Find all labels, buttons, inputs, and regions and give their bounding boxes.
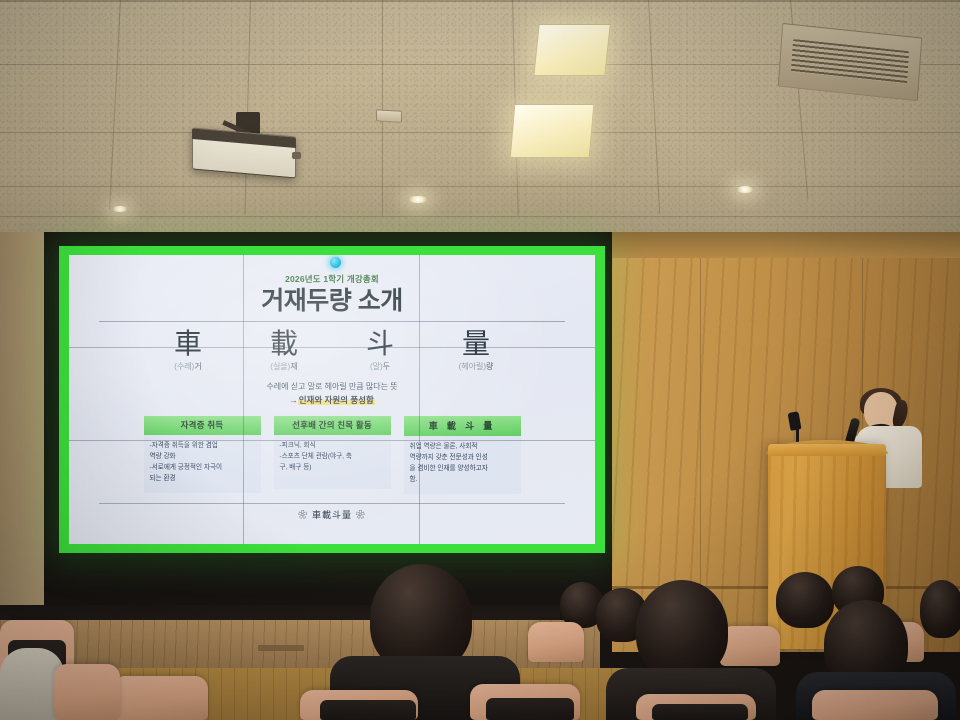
card-1-line-1: -자격증 취득을 위한 겸업 bbox=[150, 441, 255, 451]
projected-slide: 2026년도 1학기 개강총회 거재두량 소개 車 (수레)거 載 (실을)재 bbox=[59, 246, 605, 553]
card-1-line-3: -서로에게 긍정적인 자극이 bbox=[150, 463, 255, 473]
auditorium-seat bbox=[720, 626, 780, 666]
audience-head bbox=[636, 580, 728, 678]
card-3-line-3: 을 겸비한 인재를 양성하고자 bbox=[410, 464, 515, 474]
hanja-char-1: 車 bbox=[155, 329, 221, 358]
slide-title: 거재두량 소개 bbox=[95, 288, 569, 314]
auditorium-seat-back bbox=[320, 700, 416, 720]
hanja-reading-3: (말)두 bbox=[347, 361, 413, 372]
ceiling-light-panel-2 bbox=[510, 104, 595, 158]
audience-head bbox=[920, 580, 960, 638]
activity-card-1: 자격증 취득 -자격증 취득을 위한 겸업 역량 강화 -서로에게 긍정적인 자… bbox=[144, 416, 261, 494]
activity-card-3: 車 載 斗 量 취업 역량은 물론, 사회적 역량까지 갖춘 전문성과 인성 을… bbox=[404, 416, 521, 494]
hanja-meaning-1: (수레) bbox=[174, 362, 194, 371]
activity-card-1-head: 자격증 취득 bbox=[144, 416, 261, 435]
slide-canvas: 2026년도 1학기 개강총회 거재두량 소개 車 (수레)거 載 (실을)재 bbox=[69, 255, 595, 544]
auditorium-seat-back bbox=[486, 698, 574, 720]
hanja-sound-4: 량 bbox=[486, 362, 493, 371]
slide-divider-top bbox=[99, 321, 565, 322]
activity-card-1-body: -자격증 취득을 위한 겸업 역량 강화 -서로에게 긍정적인 자극이 되는 환… bbox=[144, 435, 261, 493]
slide-divider-bottom bbox=[99, 503, 565, 504]
hanja-cell-2: 載 (실을)재 bbox=[251, 329, 317, 371]
hanja-meaning-4: (헤아릴) bbox=[459, 362, 486, 371]
meaning-highlight: 인재와 자원의 풍성함 bbox=[298, 395, 375, 405]
activity-card-3-body: 취업 역량은 물론, 사회적 역량까지 갖춘 전문성과 인성 을 겸비한 인재를… bbox=[404, 436, 521, 494]
activity-cards: 자격증 취득 -자격증 취득을 위한 겸업 역량 강화 -서로에게 긍정적인 자… bbox=[95, 416, 569, 494]
slide-eyebrow: 2026년도 1학기 개강총회 bbox=[95, 273, 569, 285]
hanja-reading-2: (실을)재 bbox=[251, 361, 317, 372]
hanja-char-2: 載 bbox=[251, 329, 317, 358]
wall-right-upper-trim bbox=[612, 232, 960, 258]
ceiling-light-panel-1 bbox=[533, 24, 610, 76]
ceiling-downlight-2 bbox=[408, 196, 428, 203]
audience-head bbox=[776, 572, 834, 628]
activity-card-2-head: 선후배 간의 친목 활동 bbox=[274, 416, 391, 435]
stage-floor-plate bbox=[258, 645, 304, 651]
card-2-line-1: -피크닉, 회식 bbox=[280, 441, 385, 451]
lecture-hall-photo: 2026년도 1학기 개강총회 거재두량 소개 車 (수레)거 載 (실을)재 bbox=[0, 0, 960, 720]
card-2-line-2: -스포츠 단체 관람(야구, 축 bbox=[280, 452, 385, 462]
hanja-meaning-3: (말) bbox=[370, 362, 383, 371]
slide-footer: ❀ 車載斗量 ❀ bbox=[95, 508, 569, 521]
meaning-arrow: → bbox=[289, 395, 298, 405]
ceiling-downlight-3 bbox=[112, 206, 128, 212]
ceiling-downlight-1 bbox=[736, 186, 754, 193]
auditorium-seat bbox=[112, 676, 208, 720]
hanja-sound-1: 거 bbox=[194, 362, 201, 371]
card-3-line-4: 함. bbox=[410, 475, 515, 485]
auditorium-seat bbox=[812, 690, 938, 720]
meaning-line-1: 수레에 싣고 말로 헤아릴 만큼 많다는 뜻 bbox=[95, 381, 569, 392]
hanja-meaning-2: (실을) bbox=[270, 362, 290, 371]
activity-card-3-head: 車 載 斗 量 bbox=[404, 416, 521, 436]
wall-seam-1 bbox=[700, 258, 701, 588]
hanja-reading-4: (헤아릴)량 bbox=[443, 361, 509, 372]
hanja-cell-3: 斗 (말)두 bbox=[347, 329, 413, 371]
auditorium-seat-back bbox=[652, 704, 748, 720]
ceiling-speaker bbox=[376, 109, 402, 122]
projector-icon bbox=[192, 127, 296, 178]
hanja-cell-1: 車 (수레)거 bbox=[155, 329, 221, 371]
cursor-dot-icon[interactable] bbox=[330, 257, 341, 268]
card-2-line-3: 구, 배구 등) bbox=[280, 463, 385, 473]
hanja-row: 車 (수레)거 載 (실을)재 斗 (말)두 bbox=[95, 329, 569, 371]
card-1-line-2: 역량 강화 bbox=[150, 452, 255, 462]
card-3-line-2: 역량까지 갖춘 전문성과 인성 bbox=[410, 453, 515, 463]
hanja-char-3: 斗 bbox=[347, 329, 413, 358]
projector-lens bbox=[292, 152, 301, 159]
activity-card-2: 선후배 간의 친목 활동 -피크닉, 회식 -스포츠 단체 관람(야구, 축 구… bbox=[274, 416, 391, 494]
hanja-cell-4: 量 (헤아릴)량 bbox=[443, 329, 509, 371]
hanja-char-4: 量 bbox=[443, 329, 509, 358]
auditorium-seat bbox=[54, 664, 120, 720]
hanja-sound-3: 두 bbox=[383, 362, 390, 371]
wall-left bbox=[0, 232, 44, 652]
card-1-line-4: 되는 환경 bbox=[150, 474, 255, 484]
card-3-line-1: 취업 역량은 물론, 사회적 bbox=[410, 442, 515, 452]
hanja-sound-2: 재 bbox=[290, 362, 297, 371]
auditorium-seat bbox=[528, 622, 584, 662]
activity-card-2-body: -피크닉, 회식 -스포츠 단체 관람(야구, 축 구, 배구 등) bbox=[274, 435, 391, 489]
meaning-line-2: →인재와 자원의 풍성함 bbox=[95, 394, 569, 406]
hanja-reading-1: (수레)거 bbox=[155, 361, 221, 372]
